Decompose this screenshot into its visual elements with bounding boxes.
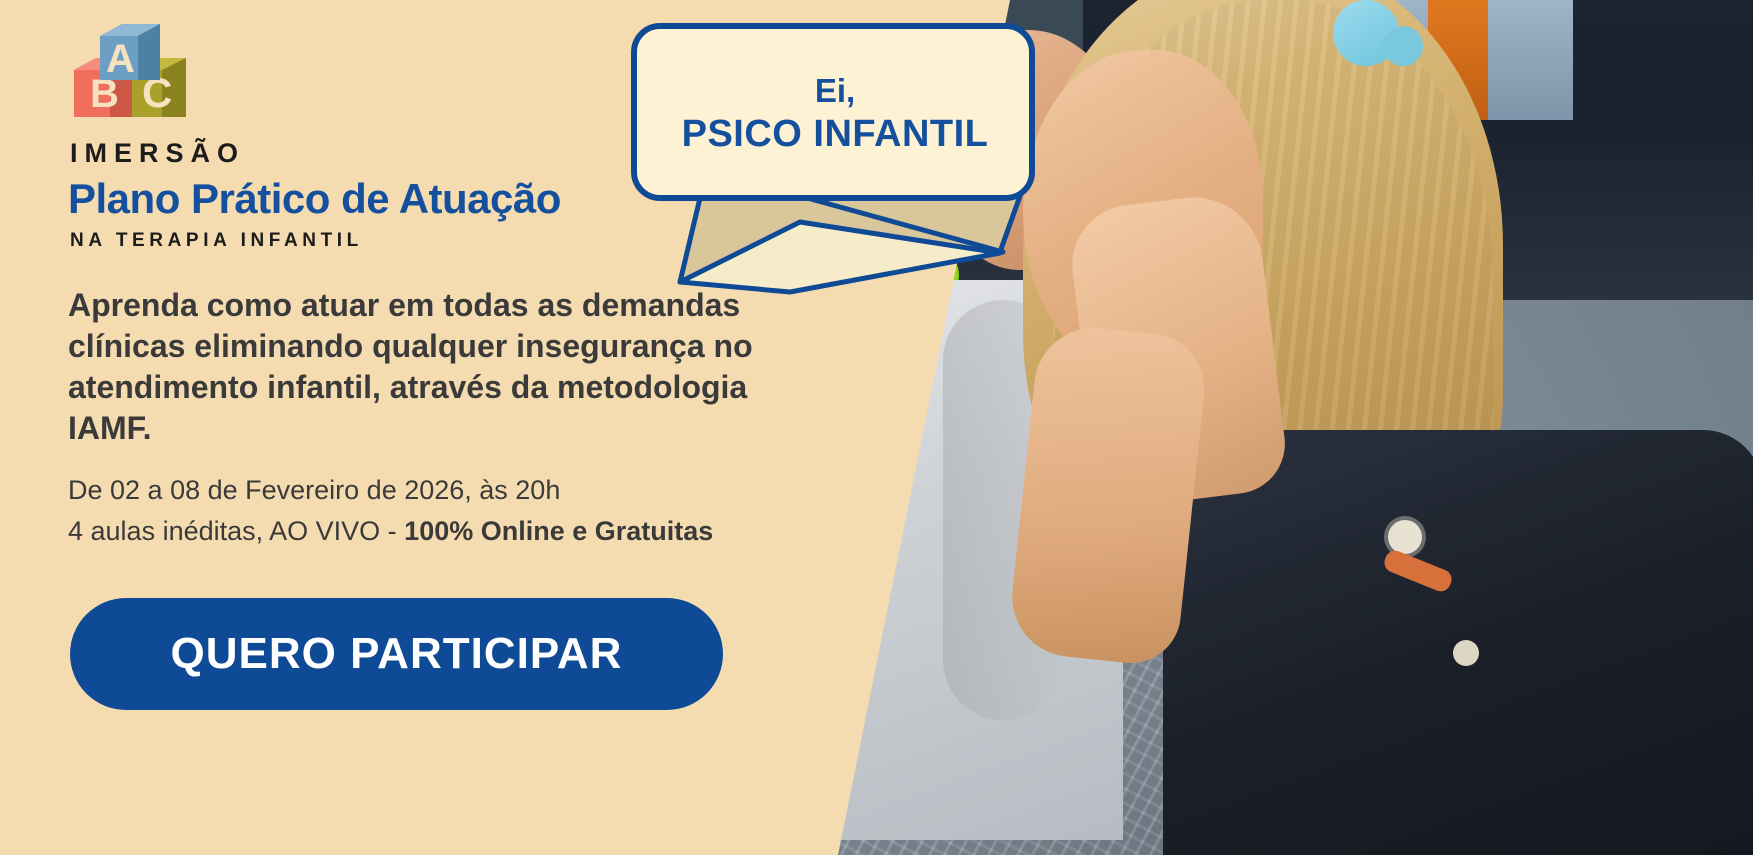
abc-blocks-logo: C B A: [70, 22, 190, 127]
event-details: De 02 a 08 de Fevereiro de 2026, às 20h …: [68, 470, 908, 551]
svg-text:A: A: [106, 37, 135, 81]
girl-hair-clip-secondary: [1383, 26, 1423, 66]
event-format-highlight: 100% Online e Gratuitas: [404, 516, 713, 546]
quero-participar-button[interactable]: QUERO PARTICIPAR: [70, 598, 723, 710]
event-format-line: 4 aulas inéditas, AO VIVO - 100% Online …: [68, 511, 908, 552]
speech-bubble-line2: PSICO INFANTIL: [682, 111, 989, 159]
speech-bubble-text: Ei, PSICO INFANTIL: [640, 45, 1030, 185]
promo-banner: C B A IMERSÃO Plano Prático de Atuação N…: [0, 0, 1753, 855]
girl-right-hand: [1006, 322, 1210, 668]
eyebrow-text: IMERSÃO: [70, 138, 245, 169]
speech-bubble-line1: Ei,: [815, 71, 855, 111]
event-date-line: De 02 a 08 de Fevereiro de 2026, às 20h: [68, 470, 908, 511]
page-title: Plano Prático de Atuação: [68, 175, 561, 223]
event-format-prefix: 4 aulas inéditas, AO VIVO -: [68, 516, 404, 546]
abc-blocks-icon: C B A: [70, 22, 190, 127]
girl-shirt-flower-secondary: [1453, 640, 1479, 666]
page-subtitle: NA TERAPIA INFANTIL: [70, 230, 363, 252]
lead-paragraph: Aprenda como atuar em todas as demandas …: [68, 285, 828, 449]
girl-shirt-flower: [1388, 520, 1422, 554]
